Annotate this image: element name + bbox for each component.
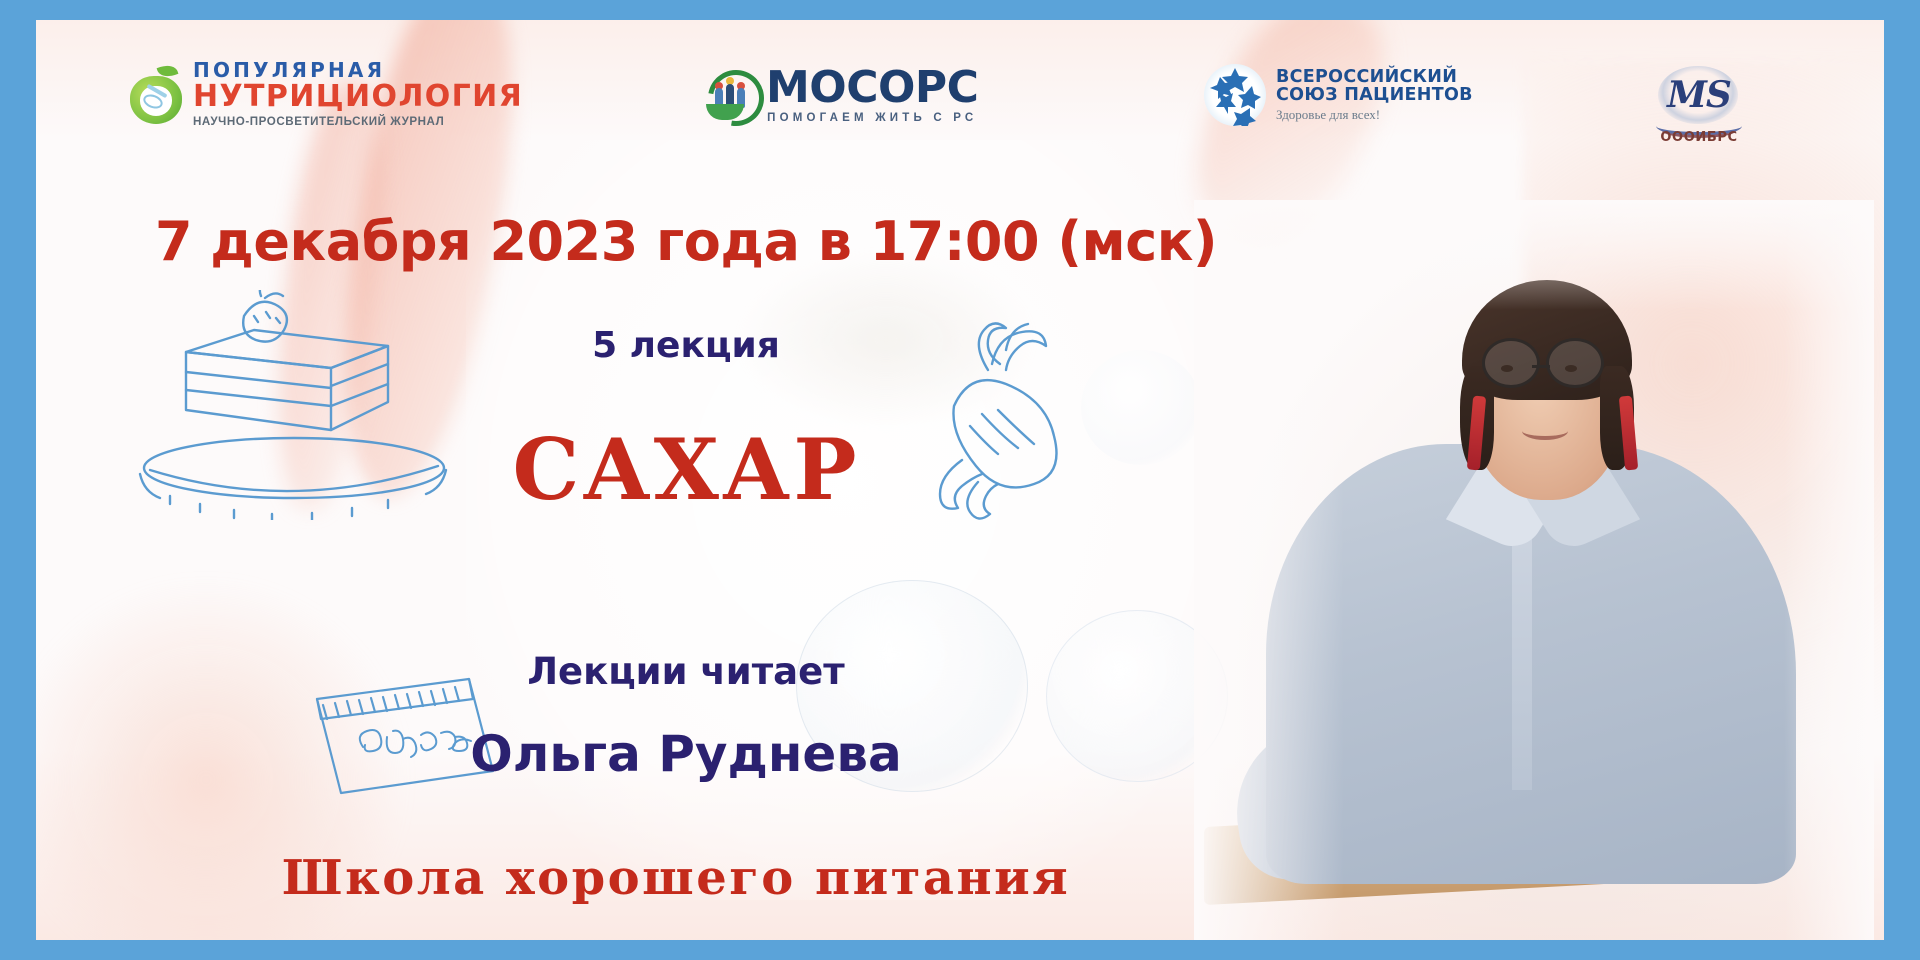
speaker-label: Лекции читает: [96, 650, 1276, 693]
portrait-glasses-bridge: [1532, 365, 1550, 368]
logo-union-line1: ВСЕРОССИЙСКИЙ: [1276, 68, 1473, 87]
portrait-shirt-placket: [1512, 530, 1532, 790]
logo-union-of-patients: ВСЕРОССИЙСКИЙ СОЮЗ ПАЦИЕНТОВ Здоровье дл…: [1204, 64, 1473, 126]
mosors-ring-shape: [697, 59, 775, 137]
logo-union-text: ВСЕРОССИЙСКИЙ СОЮЗ ПАЦИЕНТОВ Здоровье дл…: [1276, 68, 1473, 123]
hand-holding-people-icon: [704, 68, 758, 122]
logo-mosors-text: МОСОРС ПОМОГАЕМ ЖИТЬ С РС: [766, 66, 978, 125]
logo-row: ПОПУЛЯРНАЯ НУТРИЦИОЛОГИЯ НАУЧНО-ПРОСВЕТИ…: [36, 50, 1884, 140]
logo-nutritiology-line3: НАУЧНО-ПРОСВЕТИТЕЛЬСКИЙ ЖУРНАЛ: [193, 116, 523, 128]
footer-tagline: Школа хорошего питания: [76, 850, 1276, 906]
logo-nutritiology-line1: ПОПУЛЯРНАЯ: [193, 60, 523, 80]
apple-with-spoon-icon: [128, 64, 184, 124]
logo-nutritiology-line2: НУТРИЦИОЛОГИЯ: [193, 82, 523, 112]
lecture-number: 5 лекция: [96, 325, 1276, 366]
portrait-fade-left: [1194, 200, 1344, 940]
ms-caption: ОООИБРС: [1646, 130, 1752, 145]
logo-union-line3: Здоровье для всех!: [1276, 108, 1473, 122]
event-date-headline: 7 декабря 2023 года в 17:00 (мск): [96, 210, 1276, 273]
portrait-fade-top: [1194, 200, 1874, 310]
ms-wave-icon: MS ОООИБРС: [1646, 66, 1752, 146]
speaker-name: Ольга Руднева: [96, 725, 1276, 783]
logo-mosors-tagline: ПОМОГАЕМ ЖИТЬ С РС: [766, 113, 978, 125]
portrait-glasses-right: [1546, 338, 1604, 388]
logo-mosors-word: МОСОРС: [766, 66, 978, 110]
portrait-fade-right: [1784, 200, 1874, 940]
presenter-portrait-photo: [1194, 200, 1874, 940]
circle-of-stars-people-icon: [1204, 64, 1266, 126]
logo-ms-oooibrs: MS ОООИБРС: [1646, 66, 1752, 146]
portrait-mouth: [1522, 422, 1568, 440]
logo-mosors: МОСОРС ПОМОГАЕМ ЖИТЬ С РС: [704, 66, 978, 125]
logo-union-line2: СОЮЗ ПАЦИЕНТОВ: [1276, 86, 1473, 105]
portrait-glasses-left: [1482, 338, 1540, 388]
poster-root: ПОПУЛЯРНАЯ НУТРИЦИОЛОГИЯ НАУЧНО-ПРОСВЕТИ…: [0, 0, 1920, 960]
page-title: САХАР: [96, 420, 1276, 519]
portrait-eye-left: [1501, 365, 1513, 372]
logo-nutritiology-text: ПОПУЛЯРНАЯ НУТРИЦИОЛОГИЯ НАУЧНО-ПРОСВЕТИ…: [193, 60, 523, 128]
portrait-eye-right: [1565, 365, 1577, 372]
poster-canvas: ПОПУЛЯРНАЯ НУТРИЦИОЛОГИЯ НАУЧНО-ПРОСВЕТИ…: [36, 20, 1884, 940]
union-star-figures: [1204, 64, 1266, 126]
logo-popular-nutritiology: ПОПУЛЯРНАЯ НУТРИЦИОЛОГИЯ НАУЧНО-ПРОСВЕТИ…: [128, 60, 523, 128]
ms-monogram: MS: [1646, 74, 1752, 116]
